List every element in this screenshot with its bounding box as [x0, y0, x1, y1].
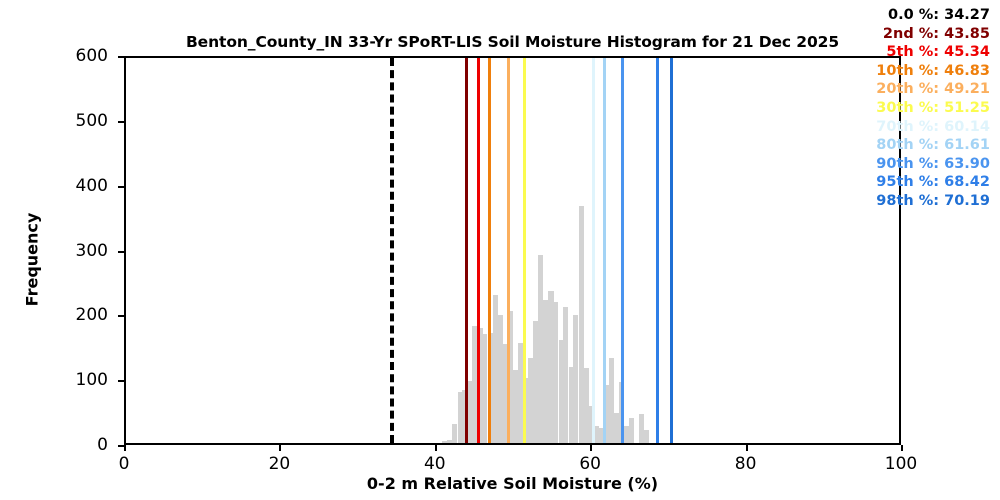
x-tick: [435, 445, 437, 451]
y-tick-label: 200: [36, 305, 108, 325]
histogram-bar: [573, 315, 578, 443]
percentile-line-5th: [477, 58, 480, 443]
x-tick: [124, 445, 126, 451]
legend-entry-0-0: 0.0 %: 34.27: [876, 6, 990, 25]
x-tick-label: 40: [424, 454, 446, 474]
legend-entry-30th: 30th %: 51.25: [876, 99, 990, 118]
histogram-bar: [583, 368, 588, 443]
legend: 0.0 %: 34.272nd %: 43.855th %: 45.3410th…: [876, 6, 990, 211]
x-tick-label: 100: [885, 454, 917, 474]
histogram-bar: [482, 334, 487, 443]
y-tick-label: 300: [36, 241, 108, 261]
x-tick: [746, 445, 748, 451]
histogram-bar: [629, 418, 634, 443]
histogram-bar: [553, 302, 558, 443]
x-tick-label: 60: [579, 454, 601, 474]
x-tick-label: 80: [735, 454, 757, 474]
percentile-line-10th: [488, 58, 491, 443]
histogram-bar: [644, 430, 649, 443]
y-tick-label: 600: [36, 46, 108, 66]
x-tick: [901, 445, 903, 451]
histogram-bar: [543, 300, 548, 443]
plot-area: [124, 56, 901, 445]
y-tick-label: 500: [36, 111, 108, 131]
y-tick: [118, 315, 124, 317]
percentile-line-0-0: [390, 58, 394, 443]
x-tick: [590, 445, 592, 451]
y-tick: [118, 445, 124, 447]
y-tick-label: 100: [36, 370, 108, 390]
histogram-bar: [533, 321, 538, 443]
legend-entry-98th: 98th %: 70.19: [876, 192, 990, 211]
percentile-line-70th: [592, 58, 595, 443]
legend-entry-80th: 80th %: 61.61: [876, 136, 990, 155]
y-axis-label: Frequency: [23, 160, 42, 360]
legend-entry-20th: 20th %: 49.21: [876, 80, 990, 99]
legend-entry-70th: 70th %: 60.14: [876, 118, 990, 137]
percentile-line-30th: [523, 58, 526, 443]
x-axis-label: 0-2 m Relative Soil Moisture (%): [124, 474, 901, 493]
histogram-bar: [624, 426, 629, 444]
y-axis-ticks: 0100200300400500600: [36, 0, 118, 500]
page-title: Benton_County_IN 33-Yr SPoRT-LIS Soil Mo…: [124, 33, 901, 51]
x-tick: [279, 445, 281, 451]
percentile-line-80th: [603, 58, 606, 443]
y-tick: [118, 121, 124, 123]
percentile-line-98th: [670, 58, 673, 443]
x-tick-label: 0: [119, 454, 130, 474]
y-tick: [118, 380, 124, 382]
y-tick-label: 400: [36, 176, 108, 196]
histogram-bar: [563, 307, 568, 443]
percentile-line-90th: [621, 58, 624, 443]
histogram-bar: [452, 424, 457, 443]
histogram-bar: [493, 295, 498, 443]
histogram-bar: [513, 370, 518, 443]
x-tick-label: 20: [269, 454, 291, 474]
legend-entry-10th: 10th %: 46.83: [876, 62, 990, 81]
legend-entry-5th: 5th %: 45.34: [876, 43, 990, 62]
plot-inner: [126, 58, 899, 443]
legend-entry-90th: 90th %: 63.90: [876, 155, 990, 174]
histogram-bar: [614, 413, 619, 443]
legend-entry-95th: 95th %: 68.42: [876, 173, 990, 192]
histogram-figure: Benton_County_IN 33-Yr SPoRT-LIS Soil Mo…: [0, 0, 1000, 500]
y-tick: [118, 56, 124, 58]
legend-entry-2nd: 2nd %: 43.85: [876, 25, 990, 44]
y-tick: [118, 186, 124, 188]
percentile-line-2nd: [465, 58, 468, 443]
y-tick-label: 0: [36, 435, 108, 455]
percentile-line-20th: [507, 58, 510, 443]
percentile-line-95th: [656, 58, 659, 443]
y-tick: [118, 251, 124, 253]
histogram-bar: [442, 441, 447, 443]
